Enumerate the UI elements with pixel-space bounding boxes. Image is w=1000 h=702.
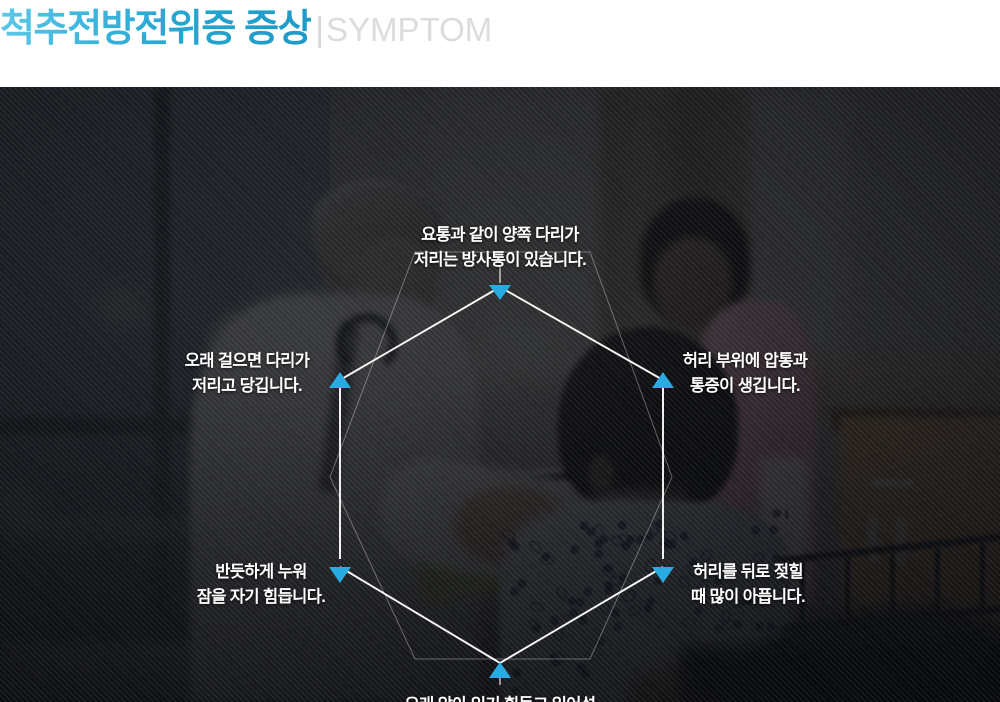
symptom-label-bottom-line1: 오래 앉아 있기 힘들고 일어설 bbox=[405, 693, 596, 702]
marker-bottom bbox=[489, 662, 511, 678]
symptom-label-upper-left-line2: 저리고 당깁니다. bbox=[185, 374, 310, 399]
title-separator: | bbox=[311, 4, 326, 56]
page-title-korean: 척추전방전위증 증상 bbox=[0, 3, 311, 55]
symptom-label-upper-right-line1: 허리 부위에 압통과 bbox=[683, 349, 808, 374]
outer-hexagon-outline bbox=[330, 252, 672, 659]
marker-upper-left bbox=[329, 372, 351, 388]
symptom-label-upper-right-line2: 통증이 생깁니다. bbox=[683, 374, 808, 399]
inner-hexagon bbox=[340, 287, 663, 663]
symptom-page: 척추전방전위증 증상 | SYMPTOM bbox=[0, 0, 1000, 702]
symptom-label-lower-right-line1: 허리를 뒤로 젖힐 bbox=[691, 560, 805, 585]
marker-upper-right bbox=[652, 372, 674, 388]
marker-lower-left bbox=[329, 567, 351, 583]
symptom-label-top-line1: 요통과 같이 양쪽 다리가 bbox=[414, 223, 586, 248]
symptom-label-lower-right: 허리를 뒤로 젖힐 때 많이 아픕니다. bbox=[691, 560, 805, 610]
symptom-label-upper-left: 오래 걸으면 다리가 저리고 당깁니다. bbox=[185, 349, 310, 399]
symptom-label-lower-left: 반듯하게 누워 잠을 자기 힘듭니다. bbox=[197, 560, 326, 610]
symptom-label-lower-left-line1: 반듯하게 누워 bbox=[197, 560, 326, 585]
symptom-label-top-line2: 저리는 방사통이 있습니다. bbox=[414, 248, 586, 273]
page-header: 척추전방전위증 증상 | SYMPTOM bbox=[0, 0, 1000, 87]
symptom-label-upper-left-line1: 오래 걸으면 다리가 bbox=[185, 349, 310, 374]
symptom-label-upper-right: 허리 부위에 압통과 통증이 생깁니다. bbox=[683, 349, 808, 399]
leader-lines bbox=[340, 267, 663, 685]
hero-image: 요통과 같이 양쪽 다리가 저리는 방사통이 있습니다. 오래 걸으면 다리가 … bbox=[0, 87, 1000, 702]
symptom-label-top: 요통과 같이 양쪽 다리가 저리는 방사통이 있습니다. bbox=[414, 223, 586, 273]
symptom-label-bottom: 오래 앉아 있기 힘들고 일어설 때 통증이 더 심해집니다. bbox=[405, 693, 596, 702]
symptom-label-lower-left-line2: 잠을 자기 힘듭니다. bbox=[197, 585, 326, 610]
marker-lower-right bbox=[652, 567, 674, 583]
symptom-hexagon-diagram bbox=[0, 87, 1000, 702]
page-title-english: SYMPTOM bbox=[326, 4, 492, 56]
page-title: 척추전방전위증 증상 | SYMPTOM bbox=[0, 3, 492, 56]
symptom-label-lower-right-line2: 때 많이 아픕니다. bbox=[691, 585, 805, 610]
